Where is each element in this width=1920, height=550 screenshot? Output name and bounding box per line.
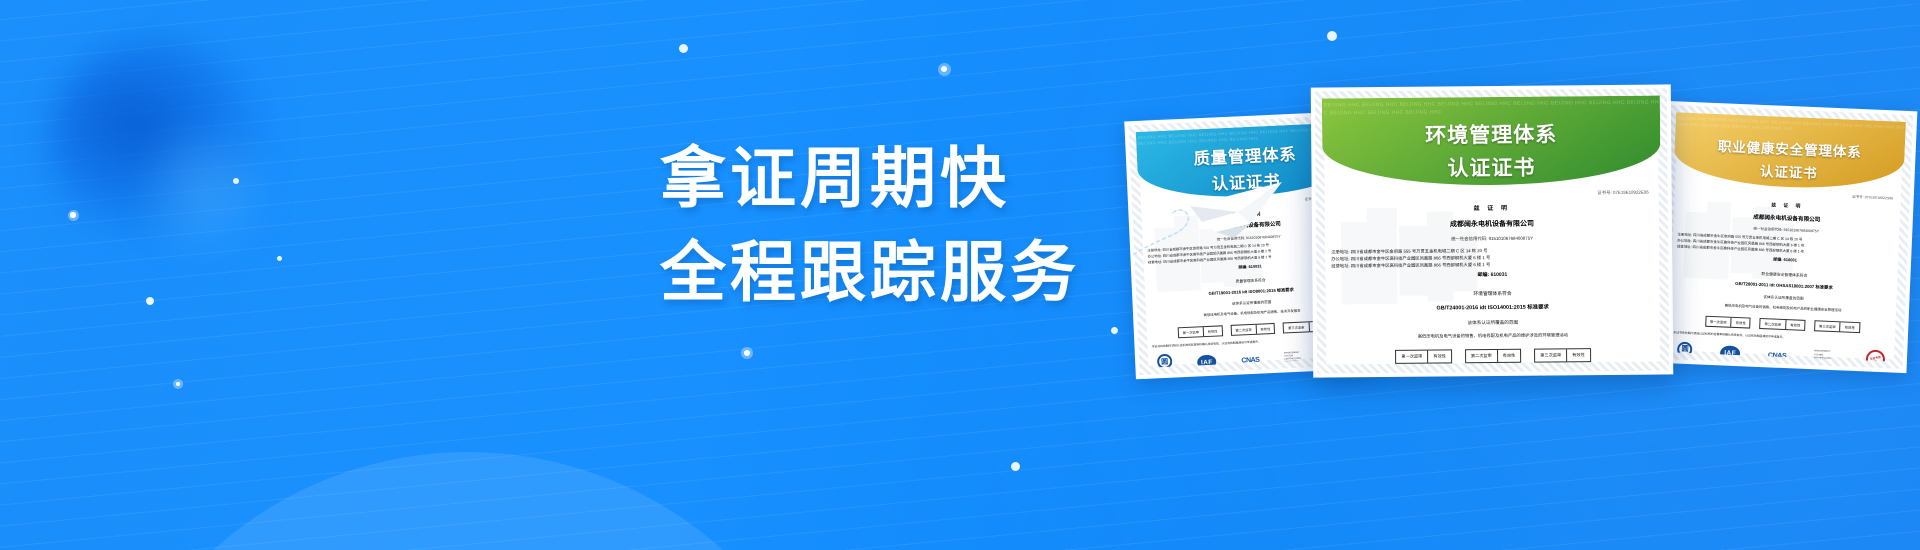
certificate-card-safety[interactable]: BEIJING HHC BEIJING HHC BEIJING HHC BEIJ… xyxy=(1655,101,1918,373)
certificate-title-line-2: 认证证书 xyxy=(1760,159,1818,181)
paper-plane-icon xyxy=(1130,150,1310,260)
certificate-card-environment[interactable]: BEIJING HHC BEIJING HHC BEIJING HHC BEIJ… xyxy=(1311,84,1674,377)
headline-block: 拿证周期快 全程跟踪服务 xyxy=(660,136,1080,314)
decor-dot-ring xyxy=(741,347,753,359)
headline-line-1: 拿证周期快 xyxy=(660,136,1080,220)
decor-dot xyxy=(679,44,688,53)
decor-dot xyxy=(146,297,154,305)
decor-arc-large xyxy=(88,452,848,550)
promo-banner: 拿证周期快 全程跟踪服务 BEIJING HHC BEIJING HHC BEI… xyxy=(0,0,1920,550)
decor-dot-ring xyxy=(173,379,183,389)
certificate-body: 证书号: 07S19S18922S06兹 证 明成都阔永电机设备有限公司统一社会… xyxy=(1666,187,1903,361)
headline-line-2: 全程跟踪服务 xyxy=(660,230,1080,314)
certificate-header: BEIJING HHC BEIJING HHC BEIJING HHC BEIJ… xyxy=(1322,96,1661,187)
decor-dot xyxy=(1327,31,1337,41)
certificate-inner: BEIJING HHC BEIJING HHC BEIJING HHC BEIJ… xyxy=(1666,112,1906,361)
decor-dot xyxy=(233,178,239,184)
certificate-title-line-1: 环境管理体系 xyxy=(1425,118,1557,149)
decor-dot xyxy=(1111,327,1118,334)
certificate-title-line-2: 认证证书 xyxy=(1447,151,1535,182)
decor-dot-ring xyxy=(938,63,951,76)
certificate-header: BEIJING HHC BEIJING HHC BEIJING HHC BEIJ… xyxy=(1673,112,1906,192)
decor-glow-highlight xyxy=(128,120,278,260)
certificate-inner: BEIJING HHC BEIJING HHC BEIJING HHC BEIJ… xyxy=(1322,96,1662,367)
decor-dot-ring xyxy=(68,210,79,221)
certificate-body: 证书号: 07E19E18922E06兹 证 明成都阔永电机设备有限公司统一社会… xyxy=(1323,190,1663,367)
decor-dot xyxy=(277,256,282,261)
paper-plane-decoration xyxy=(1130,150,1310,260)
decor-dot xyxy=(1011,462,1020,471)
cnca-seal-caption: 中国认证认可 xyxy=(1677,357,1692,361)
